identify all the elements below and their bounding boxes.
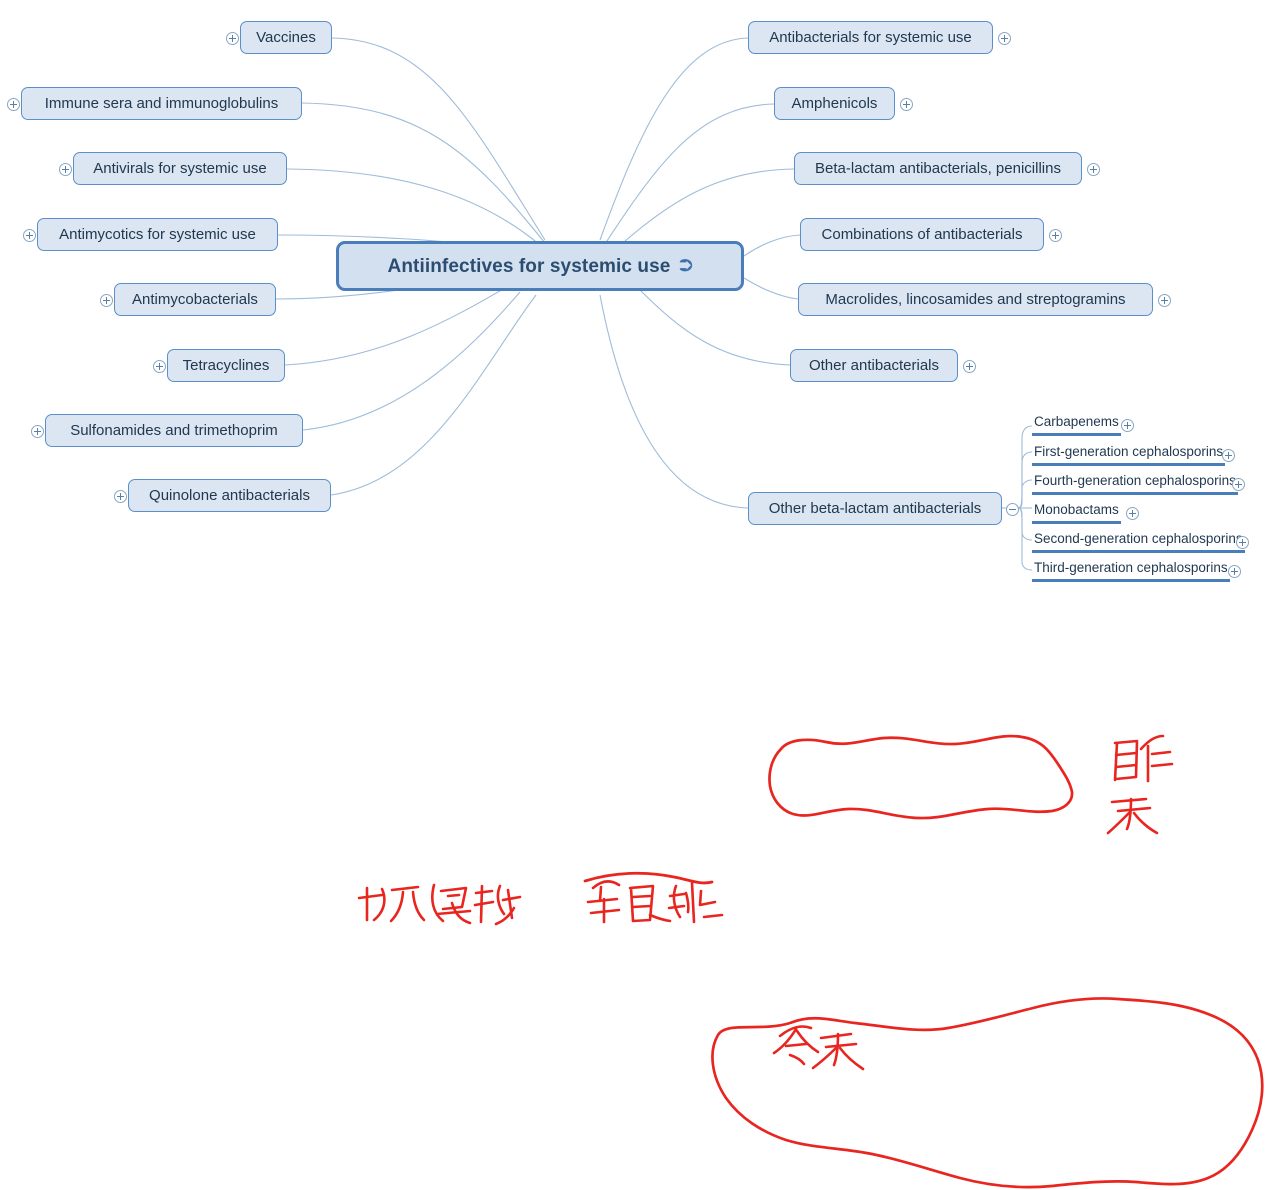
sub-branch-carbapenems[interactable]: Carbapenems: [1032, 415, 1121, 436]
branch-label: Quinolone antibacterials: [149, 488, 310, 503]
branch-label: Immune sera and immunoglobulins: [45, 96, 278, 111]
branch-node-beta-lactam-penicillins[interactable]: Beta-lactam antibacterials, penicillins: [794, 152, 1082, 185]
branch-node-antimycobacterials[interactable]: Antimycobacterials: [114, 283, 276, 316]
sub-branch-label: Carbapenems: [1034, 414, 1119, 429]
expand-icon-antimycotics[interactable]: [23, 229, 36, 242]
branch-label: Other antibacterials: [809, 358, 939, 373]
sub-branch-label: First-generation cephalosporins: [1034, 444, 1223, 459]
expand-icon-vaccines[interactable]: [226, 32, 239, 45]
expand-icon-amphenicols[interactable]: [900, 98, 913, 111]
branch-node-other-beta-lactam[interactable]: Other beta-lactam antibacterials: [748, 492, 1002, 525]
sub-branch-label: Third-generation cephalosporins: [1034, 560, 1228, 575]
sub-branch-third-gen-cephalosporins[interactable]: Third-generation cephalosporins: [1032, 561, 1230, 582]
expand-icon-combinations[interactable]: [1049, 229, 1062, 242]
expand-icon-antibacterials-systemic[interactable]: [998, 32, 1011, 45]
branch-node-other-antibacterials[interactable]: Other antibacterials: [790, 349, 958, 382]
handwriting-yesterday: [1108, 736, 1172, 833]
expand-icon-macrolides[interactable]: [1158, 294, 1171, 307]
branch-node-antivirals[interactable]: Antivirals for systemic use: [73, 152, 287, 185]
branch-label: Tetracyclines: [183, 358, 270, 373]
expand-icon-first-gen-cephalosporins[interactable]: [1222, 449, 1235, 462]
handwriting-today: [774, 1026, 863, 1069]
collapse-icon-other-beta-lactam[interactable]: [1006, 503, 1019, 516]
branch-label: Sulfonamides and trimethoprim: [70, 423, 278, 438]
sub-branch-label: Second-generation cephalosporins: [1034, 531, 1243, 546]
expand-icon-third-gen-cephalosporins[interactable]: [1228, 565, 1241, 578]
branch-label: Other beta-lactam antibacterials: [769, 501, 982, 516]
expand-icon-sulfonamides[interactable]: [31, 425, 44, 438]
expand-icon-tetracyclines[interactable]: [153, 360, 166, 373]
branch-label: Antimycotics for systemic use: [59, 227, 256, 242]
expand-icon-fourth-gen-cephalosporins[interactable]: [1232, 478, 1245, 491]
expand-icon-carbapenems[interactable]: [1121, 419, 1134, 432]
expand-icon-antivirals[interactable]: [59, 163, 72, 176]
branch-node-quinolone[interactable]: Quinolone antibacterials: [128, 479, 331, 512]
branch-node-tetracyclines[interactable]: Tetracyclines: [167, 349, 285, 382]
central-topic-node[interactable]: Antiinfectives for systemic use ⮊: [336, 241, 744, 291]
branch-label: Antibacterials for systemic use: [769, 30, 972, 45]
sub-branch-first-gen-cephalosporins[interactable]: First-generation cephalosporins: [1032, 445, 1225, 466]
branch-node-amphenicols[interactable]: Amphenicols: [774, 87, 895, 120]
handwriting-anti-infection: [359, 885, 520, 924]
handwriting-systemic: [585, 873, 722, 922]
expand-icon-beta-lactam-penicillins[interactable]: [1087, 163, 1100, 176]
branch-node-antibacterials-systemic[interactable]: Antibacterials for systemic use: [748, 21, 993, 54]
sub-branch-fourth-gen-cephalosporins[interactable]: Fourth-generation cephalosporins: [1032, 474, 1238, 495]
branch-label: Beta-lactam antibacterials, penicillins: [815, 161, 1061, 176]
branch-node-vaccines[interactable]: Vaccines: [240, 21, 332, 54]
branch-label: Combinations of antibacterials: [822, 227, 1023, 242]
central-topic-label: Antiinfectives for systemic use: [388, 257, 671, 276]
expand-icon-antimycobacterials[interactable]: [100, 294, 113, 307]
branch-label: Antimycobacterials: [132, 292, 258, 307]
expand-icon-second-gen-cephalosporins[interactable]: [1236, 536, 1249, 549]
note-flag-icon[interactable]: ⮊: [679, 257, 692, 274]
branch-node-antimycotics[interactable]: Antimycotics for systemic use: [37, 218, 278, 251]
sub-branch-label: Monobactams: [1034, 502, 1119, 517]
expand-icon-quinolone[interactable]: [114, 490, 127, 503]
expand-icon-monobactams[interactable]: [1126, 507, 1139, 520]
branch-node-immune-sera[interactable]: Immune sera and immunoglobulins: [21, 87, 302, 120]
expand-icon-immune-sera[interactable]: [7, 98, 20, 111]
handwriting-annotations: [0, 600, 1280, 1190]
branch-node-macrolides[interactable]: Macrolides, lincosamides and streptogram…: [798, 283, 1153, 316]
branch-label: Macrolides, lincosamides and streptogram…: [825, 292, 1125, 307]
sub-branch-second-gen-cephalosporins[interactable]: Second-generation cephalosporins: [1032, 532, 1245, 553]
mindmap-canvas: Antiinfectives for systemic use ⮊ Vaccin…: [0, 0, 1280, 595]
branch-node-combinations[interactable]: Combinations of antibacterials: [800, 218, 1044, 251]
sub-branch-monobactams[interactable]: Monobactams: [1032, 503, 1121, 524]
expand-icon-other-antibacterials[interactable]: [963, 360, 976, 373]
branch-label: Antivirals for systemic use: [93, 161, 266, 176]
annotation-circle-beta-lactam: [769, 736, 1072, 818]
sub-branch-label: Fourth-generation cephalosporins: [1034, 473, 1236, 488]
branch-label: Amphenicols: [792, 96, 878, 111]
branch-node-sulfonamides[interactable]: Sulfonamides and trimethoprim: [45, 414, 303, 447]
branch-label: Vaccines: [256, 30, 316, 45]
